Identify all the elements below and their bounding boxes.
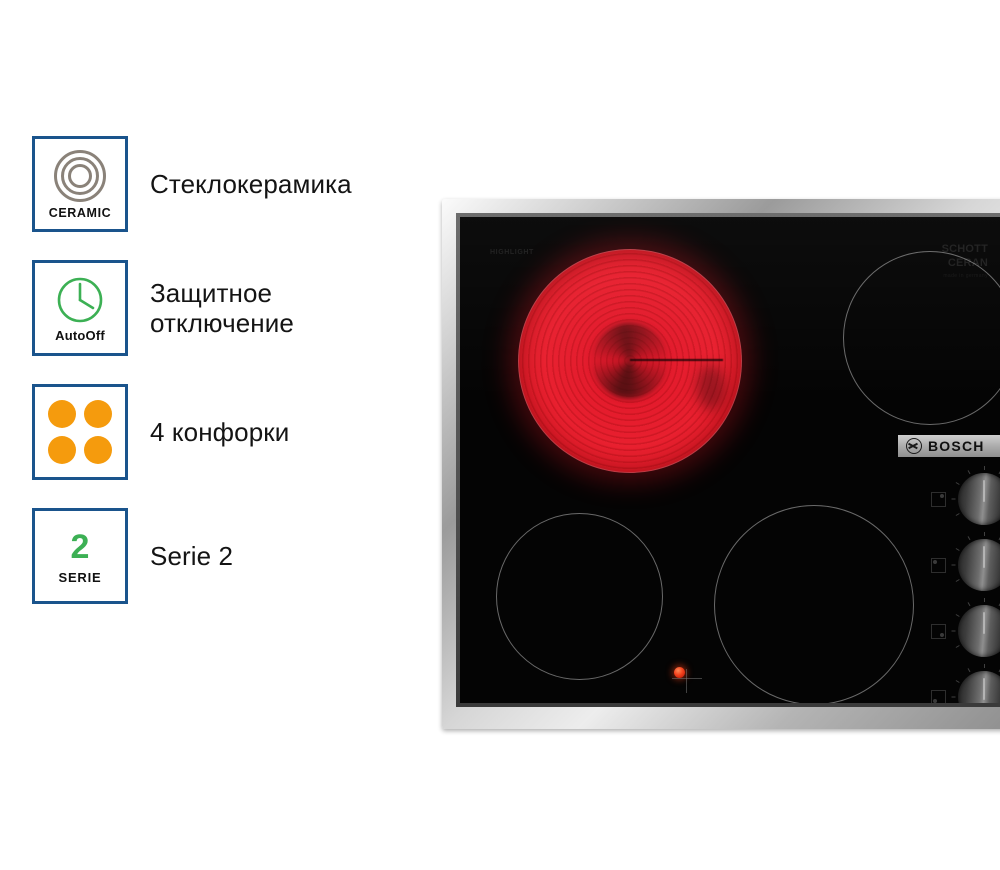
zone-heating-spoke xyxy=(630,359,723,361)
badge-auto-off: AutoOff xyxy=(32,260,128,356)
knob-tick xyxy=(984,598,985,602)
knob-tick xyxy=(968,602,971,606)
knob-tick xyxy=(956,513,960,516)
bosch-emblem-icon xyxy=(906,438,922,454)
knob-tick xyxy=(984,532,985,536)
burner-dot xyxy=(48,436,76,464)
control-knob-rear-right[interactable] xyxy=(958,539,1000,591)
ceramic-rings-icon xyxy=(54,150,106,202)
zone-shadow-blotch xyxy=(697,365,726,409)
knob-tick xyxy=(956,548,960,551)
knob-tick xyxy=(956,645,960,648)
knob-tick xyxy=(956,614,960,617)
residual-heat-indicator xyxy=(674,667,685,678)
zone-position-icon-rear-left xyxy=(931,492,946,507)
knob-tick xyxy=(952,499,956,500)
cooking-zone-front-right[interactable] xyxy=(714,505,914,703)
knob-tick xyxy=(968,668,971,672)
knob-tick xyxy=(984,664,985,668)
cooktop-product-image: HIGHLIGHT SCHOTT CERAN made in germany xyxy=(442,199,1000,729)
control-knob-row-3 xyxy=(931,605,1000,657)
knob-tick xyxy=(952,631,956,632)
feature-item-serie-2: 2 SERIE Serie 2 xyxy=(32,508,432,604)
burner-dot xyxy=(84,436,112,464)
feature-label-ceramic: Стеклокерамика xyxy=(150,169,352,199)
burner-dot xyxy=(84,400,112,428)
badge-four-burners xyxy=(32,384,128,480)
burner-dot xyxy=(48,400,76,428)
cooking-zone-rear-right[interactable] xyxy=(843,251,1000,425)
glass-mark-left: HIGHLIGHT xyxy=(490,249,534,258)
control-knob-rear-left[interactable] xyxy=(958,473,1000,525)
control-knob-front-right[interactable] xyxy=(958,671,1000,703)
badge-caption-auto-off: AutoOff xyxy=(55,328,105,343)
badge-ceramic: CERAMIC xyxy=(32,136,128,232)
clock-icon xyxy=(55,275,105,325)
feature-label-four-burners: 4 конфорки xyxy=(150,417,289,447)
cooking-zone-rear-left[interactable] xyxy=(518,249,742,473)
feature-item-four-burners: 4 конфорки xyxy=(32,384,432,480)
feature-label-auto-off: Защитное отключение xyxy=(150,278,294,338)
badge-caption-serie: SERIE xyxy=(58,570,101,585)
feature-item-auto-off: AutoOff Защитное отключение xyxy=(32,260,432,356)
zone-position-icon-front-right xyxy=(931,690,946,704)
control-knob-row-4 xyxy=(931,671,1000,703)
feature-label-serie-2: Serie 2 xyxy=(150,541,233,571)
feature-item-ceramic: CERAMIC Стеклокерамика xyxy=(32,136,432,232)
ceramic-glass-surface: HIGHLIGHT SCHOTT CERAN made in germany xyxy=(460,217,1000,703)
zone-position-icon-front-left xyxy=(931,624,946,639)
control-knob-row-1 xyxy=(931,473,1000,525)
bosch-wordmark: BOSCH xyxy=(928,438,985,454)
badge-serie-2: 2 SERIE xyxy=(32,508,128,604)
knob-tick xyxy=(952,697,956,698)
knob-tick xyxy=(956,482,960,485)
badge-caption-ceramic: CERAMIC xyxy=(49,206,112,220)
bosch-logo: BOSCH xyxy=(898,435,1000,457)
knob-tick xyxy=(956,579,960,582)
zone-position-icon-rear-right xyxy=(931,558,946,573)
knob-tick xyxy=(952,565,956,566)
control-knob-row-2 xyxy=(931,539,1000,591)
knob-tick xyxy=(968,536,971,540)
control-knob-front-left[interactable] xyxy=(958,605,1000,657)
knob-tick xyxy=(956,680,960,683)
knob-tick xyxy=(968,470,971,474)
knob-tick xyxy=(984,466,985,470)
zone-heating-coil xyxy=(592,323,667,398)
serie-number-icon: 2 xyxy=(71,530,90,564)
four-burners-icon xyxy=(48,400,112,464)
cooking-zone-front-left[interactable] xyxy=(496,513,663,680)
product-feature-page: CERAMIC Стеклокерамика AutoOff Защитное … xyxy=(0,0,1000,870)
feature-list: CERAMIC Стеклокерамика AutoOff Защитное … xyxy=(32,136,432,632)
